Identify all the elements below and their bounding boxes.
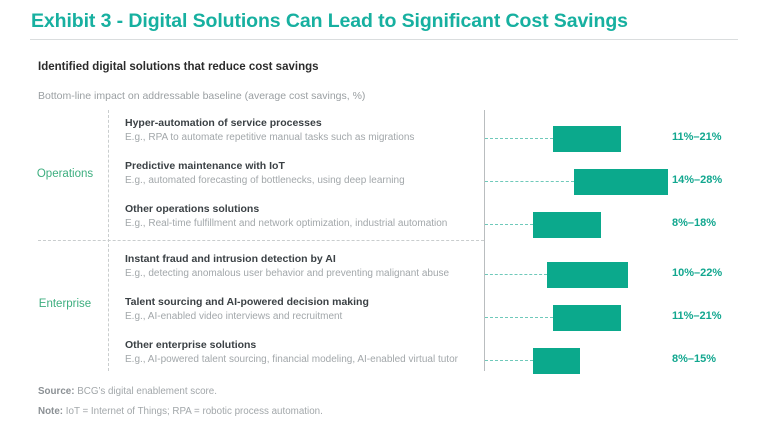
range-bar [553, 305, 621, 331]
row-example: E.g., automated forecasting of bottlenec… [125, 175, 405, 186]
row-example: E.g., detecting anomalous user behavior … [125, 268, 449, 279]
leader-line [485, 274, 547, 275]
range-bar [574, 169, 669, 195]
row-title: Predictive maintenance with IoT [125, 160, 285, 172]
range-value-label: 8%–15% [672, 353, 716, 365]
page-title: Exhibit 3 - Digital Solutions Can Lead t… [31, 10, 628, 33]
chart-row: Talent sourcing and AI-powered decision … [0, 296, 768, 339]
range-value-label: 10%–22% [672, 267, 722, 279]
leader-line [485, 360, 533, 361]
chart-row: Other operations solutions E.g., Real-ti… [0, 203, 768, 246]
range-bar [553, 126, 621, 152]
chart-row: Other enterprise solutions E.g., AI-powe… [0, 339, 768, 382]
range-value-label: 11%–21% [672, 131, 722, 143]
footnote-source-label: Source: [38, 386, 74, 397]
row-title: Instant fraud and intrusion detection by… [125, 253, 336, 265]
row-example: E.g., Real-time fulfillment and network … [125, 218, 447, 229]
chart-subheading: Identified digital solutions that reduce… [38, 61, 319, 73]
range-bar [547, 262, 628, 288]
footnote-note-label: Note: [38, 406, 63, 417]
leader-line [485, 138, 553, 139]
title-divider [30, 39, 738, 40]
leader-line [485, 224, 533, 225]
row-title: Talent sourcing and AI-powered decision … [125, 296, 369, 308]
row-example: E.g., AI-enabled video interviews and re… [125, 311, 342, 322]
range-bar [533, 212, 601, 238]
footnote-source-text: BCG’s digital enablement score. [74, 386, 217, 397]
footnote-note-text: IoT = Internet of Things; RPA = robotic … [63, 406, 323, 417]
chart-row: Instant fraud and intrusion detection by… [0, 253, 768, 296]
chart-area: Operations Enterprise Hyper-automation o… [0, 110, 768, 372]
chart-row: Predictive maintenance with IoT E.g., au… [0, 160, 768, 203]
row-title: Other enterprise solutions [125, 339, 256, 351]
range-value-label: 8%–18% [672, 217, 716, 229]
footnote-source: Source: BCG’s digital enablement score. [38, 386, 217, 397]
footnote-note: Note: IoT = Internet of Things; RPA = ro… [38, 406, 323, 417]
exhibit-container: Exhibit 3 - Digital Solutions Can Lead t… [0, 0, 768, 432]
row-example: E.g., AI-powered talent sourcing, financ… [125, 354, 458, 365]
leader-line [485, 181, 574, 182]
chart-row: Hyper-automation of service processes E.… [0, 117, 768, 160]
row-example: E.g., RPA to automate repetitive manual … [125, 132, 414, 143]
range-bar [533, 348, 580, 374]
row-title: Hyper-automation of service processes [125, 117, 322, 129]
range-value-label: 11%–21% [672, 310, 722, 322]
chart-axis-description: Bottom-line impact on addressable baseli… [38, 90, 365, 102]
range-value-label: 14%–28% [672, 174, 722, 186]
leader-line [485, 317, 553, 318]
row-title: Other operations solutions [125, 203, 259, 215]
